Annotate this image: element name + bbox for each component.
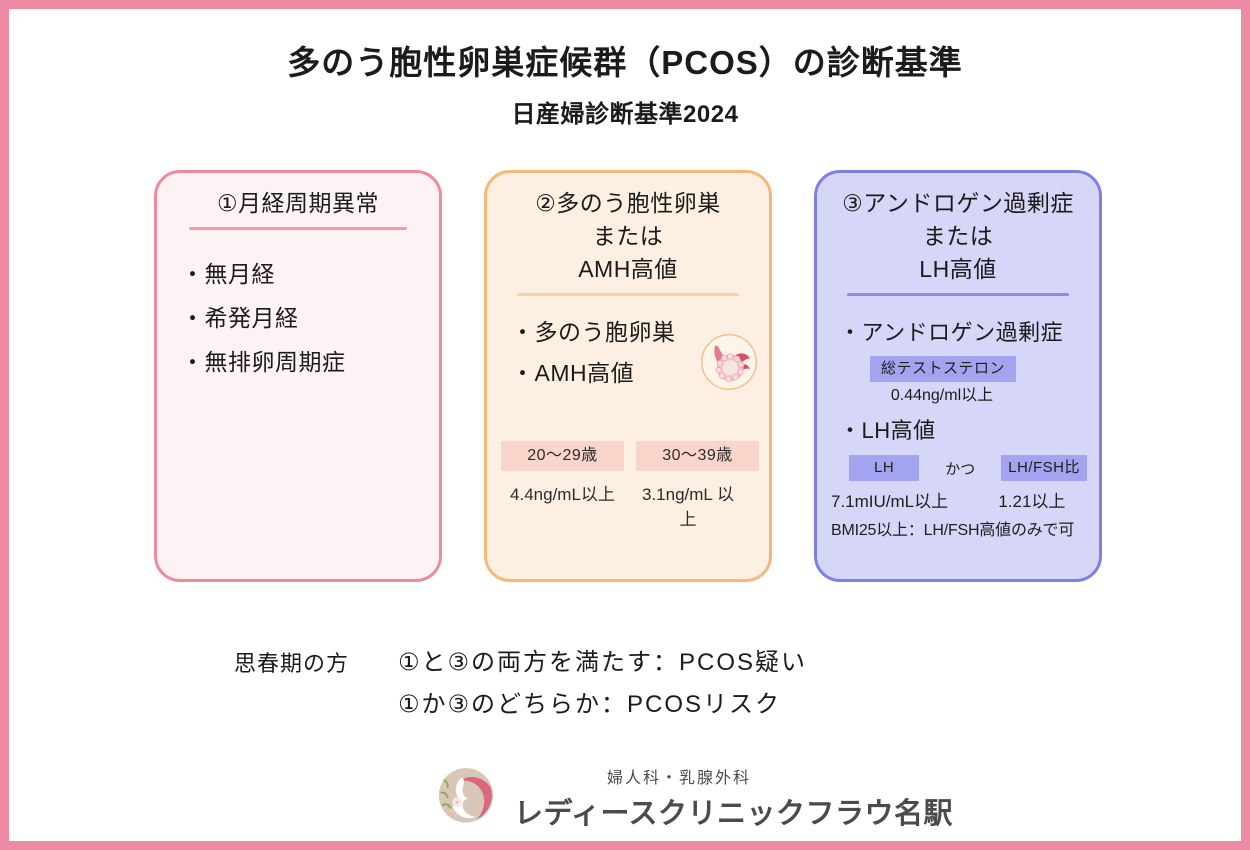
summary-line-2: ①か③のどちらか：PCOSリスク xyxy=(398,684,807,726)
card-3-title-line-1: ③アンドロゲン過剰症 xyxy=(829,187,1087,220)
card-3-title-line-3: LH高値 xyxy=(829,253,1087,286)
criteria-card-2: ②多のう胞性卵巣 または AMH高値 ・多のう胞卵巣 ・AMH高値 xyxy=(484,170,772,582)
lh-fsh-ratio-threshold: 1.21以上 xyxy=(977,487,1087,512)
card-1-divider xyxy=(189,227,407,230)
card-2-title-line-2: または xyxy=(499,220,757,253)
card-2-divider xyxy=(517,293,739,296)
summary-label: 思春期の方 xyxy=(234,646,349,678)
amh-age-table: 20〜29歳 4.4ng/mL以上 30〜39歳 3.1ng/mL 以上 xyxy=(501,441,759,532)
clinic-logo-text: 婦人科・乳腺外科 レディースクリニックフラウ名駅 xyxy=(514,754,844,832)
card-1-bullet-3: ・無排卵周期症 xyxy=(169,340,427,384)
summary-line-1: ①と③の両方を満たす：PCOS疑い xyxy=(398,642,807,684)
card-1-bullet-2: ・希発月経 xyxy=(169,296,427,340)
criteria-card-3: ③アンドロゲン過剰症 または LH高値 ・アンドロゲン過剰症 総テストステロン … xyxy=(814,170,1102,582)
clinic-name: レディースクリニックフラウ名駅 xyxy=(514,790,844,832)
page-title: 多のう胞性卵巣症候群（PCOS）の診断基準 xyxy=(12,36,1238,84)
lh-chip: LH xyxy=(849,455,919,481)
infographic-page: 多のう胞性卵巣症候群（PCOS）の診断基準 日産婦診断基準2024 ①月経周期異… xyxy=(0,0,1250,850)
criteria-card-1: ①月経周期異常 ・無月経 ・希発月経 ・無排卵周期症 xyxy=(154,170,442,582)
lh-threshold: 7.1mIU/mL以上 xyxy=(829,487,977,512)
page-subtitle: 日産婦診断基準2024 xyxy=(12,94,1238,129)
amh-age-column-2: 30〜39歳 3.1ng/mL 以上 xyxy=(636,441,759,532)
content-stage: 多のう胞性卵巣症候群（PCOS）の診断基準 日産婦診断基準2024 ①月経周期異… xyxy=(12,12,1238,838)
card-1-title: ①月経周期異常 xyxy=(169,187,427,220)
testosterone-chip: 総テストステロン xyxy=(870,356,1016,382)
amh-age-chip-2: 30〜39歳 xyxy=(636,441,759,471)
amh-age-value-1: 4.4ng/mL以上 xyxy=(501,482,624,507)
clinic-logo: 婦人科・乳腺外科 レディースクリニックフラウ名駅 xyxy=(422,754,842,834)
lh-chip-row: LH かつ LH/FSH比 xyxy=(829,455,1087,481)
lh-fsh-ratio-chip: LH/FSH比 xyxy=(1001,455,1087,481)
testosterone-chip-wrap: 総テストステロン xyxy=(829,356,1087,382)
clinic-department: 婦人科・乳腺外科 xyxy=(514,754,844,788)
card-3-title-line-2: または xyxy=(829,220,1087,253)
card-3-divider xyxy=(847,293,1069,296)
testosterone-threshold: 0.44ng/ml以上 xyxy=(829,382,1087,410)
card-3-bullet-1: ・アンドロゲン過剰症 xyxy=(829,312,1087,353)
lh-value-row: 7.1mIU/mL以上 1.21以上 xyxy=(829,487,1087,512)
card-2-title-line-1: ②多のう胞性卵巣 xyxy=(499,187,757,220)
bmi-note: BMI25以上：LH/FSH高値のみで可 xyxy=(829,516,1087,540)
ovary-icon xyxy=(700,333,758,391)
card-1-bullet-1: ・無月経 xyxy=(169,252,427,296)
card-3-bullet-2: ・LH高値 xyxy=(829,410,1087,451)
lh-conjunction: かつ xyxy=(919,458,1001,479)
amh-age-column-1: 20〜29歳 4.4ng/mL以上 xyxy=(501,441,624,532)
summary-block: ①と③の両方を満たす：PCOS疑い ①か③のどちらか：PCOSリスク xyxy=(398,642,807,726)
clinic-logo-icon xyxy=(432,760,500,828)
card-3-bullet-list: ・アンドロゲン過剰症 総テストステロン 0.44ng/ml以上 ・LH高値 LH… xyxy=(829,312,1087,540)
card-1-bullet-list: ・無月経 ・希発月経 ・無排卵周期症 xyxy=(169,252,427,384)
amh-age-chip-1: 20〜29歳 xyxy=(501,441,624,471)
card-2-title-line-3: AMH高値 xyxy=(499,253,757,286)
amh-age-value-2: 3.1ng/mL 以上 xyxy=(638,482,738,532)
